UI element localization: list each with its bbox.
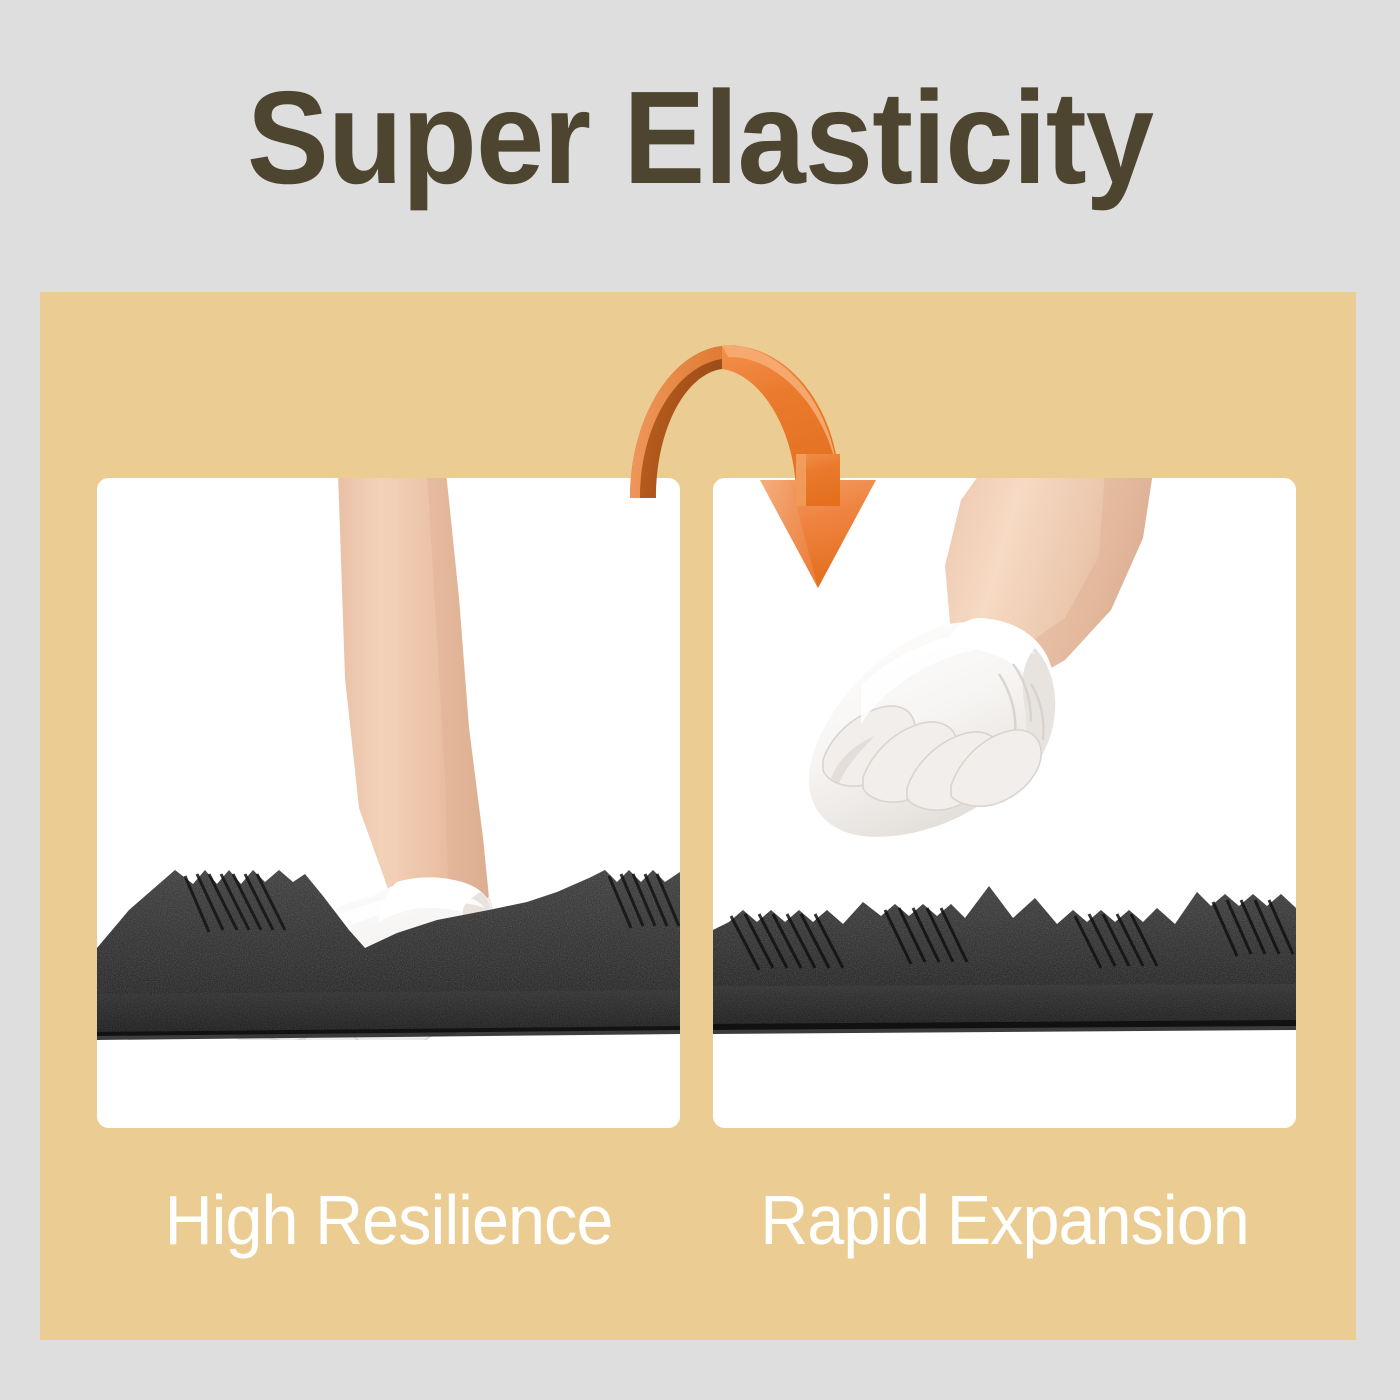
photo-card-high-resilience: [97, 478, 680, 1128]
infographic-canvas: Super Elasticity: [0, 0, 1400, 1400]
photo-card-rapid-expansion: [713, 478, 1296, 1128]
feature-panel: High Resilience Rapid Expansion: [40, 292, 1356, 1340]
page-title: Super Elasticity: [49, 72, 1351, 204]
scene-high-resilience: [97, 478, 680, 1128]
scene-rapid-expansion: [713, 478, 1296, 1128]
caption-rapid-expansion: Rapid Expansion: [728, 1185, 1282, 1255]
caption-high-resilience: High Resilience: [112, 1185, 666, 1255]
